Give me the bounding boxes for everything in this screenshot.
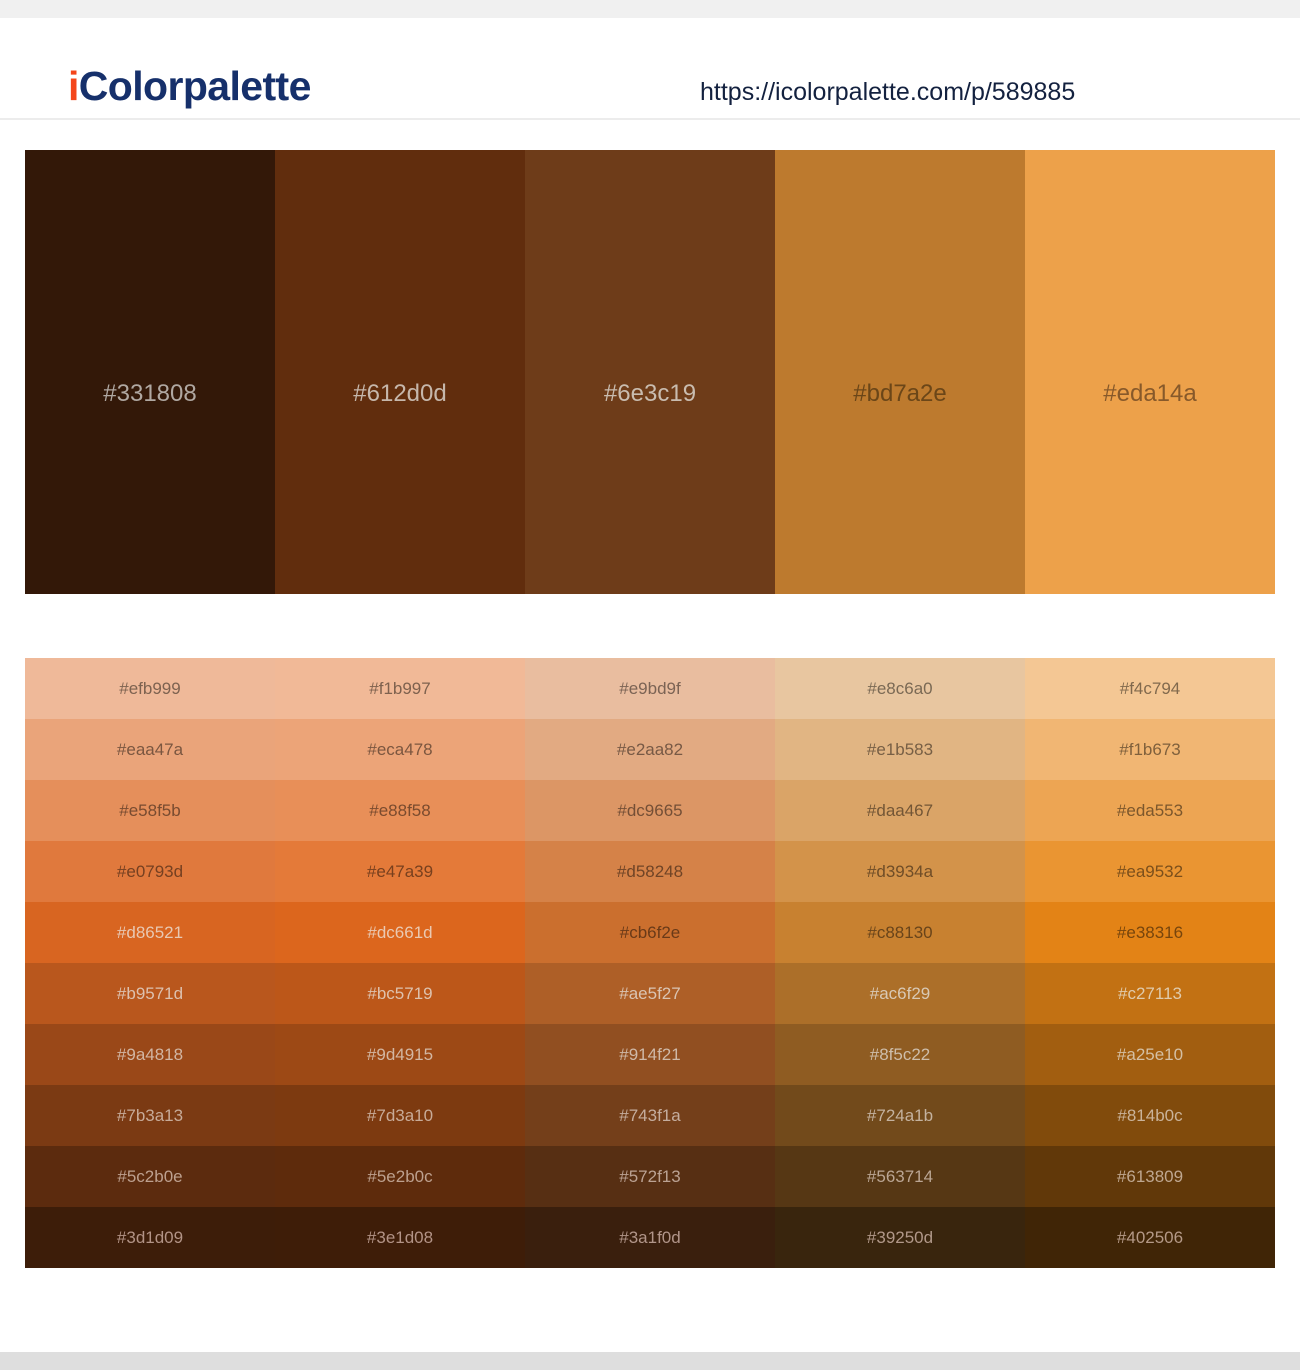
logo-i-letter: i xyxy=(68,63,79,109)
main-palette-band: #331808#612d0d#6e3c19#bd7a2e#eda14a xyxy=(25,150,1275,594)
shade-cell[interactable]: #9d4915 xyxy=(275,1024,525,1085)
palette-swatch-label: #612d0d xyxy=(275,382,525,406)
shade-cell[interactable]: #dc661d xyxy=(275,902,525,963)
shade-cell-label: #5c2b0e xyxy=(25,1146,275,1207)
shade-cell[interactable]: #cb6f2e xyxy=(525,902,775,963)
shade-cell-label: #c88130 xyxy=(775,902,1025,963)
shade-cell[interactable]: #eda553 xyxy=(1025,780,1275,841)
shade-cell[interactable]: #bc5719 xyxy=(275,963,525,1024)
shade-cell[interactable]: #724a1b xyxy=(775,1085,1025,1146)
page-url: https://icolorpalette.com/p/589885 xyxy=(700,78,1075,107)
page-root: iColorpalette https://icolorpalette.com/… xyxy=(0,0,1300,1370)
shade-cell[interactable]: #e0793d xyxy=(25,841,275,902)
bottom-gray-strip xyxy=(0,1352,1300,1370)
shade-cell[interactable]: #e88f58 xyxy=(275,780,525,841)
shade-row: #7b3a13#7d3a10#743f1a#724a1b#814b0c xyxy=(25,1085,1275,1146)
shade-cell[interactable]: #b9571d xyxy=(25,963,275,1024)
shade-cell-label: #7b3a13 xyxy=(25,1085,275,1146)
shade-row: #e58f5b#e88f58#dc9665#daa467#eda553 xyxy=(25,780,1275,841)
shade-cell[interactable]: #d58248 xyxy=(525,841,775,902)
shade-cell-label: #b9571d xyxy=(25,963,275,1024)
shade-cell[interactable]: #7d3a10 xyxy=(275,1085,525,1146)
shade-cell-label: #eaa47a xyxy=(25,719,275,780)
shade-cell-label: #ea9532 xyxy=(1025,841,1275,902)
shade-cell[interactable]: #7b3a13 xyxy=(25,1085,275,1146)
shade-cell-label: #3a1f0d xyxy=(525,1207,775,1268)
shade-cell[interactable]: #e2aa82 xyxy=(525,719,775,780)
shade-cell-label: #e9bd9f xyxy=(525,658,775,719)
shade-cell-label: #e2aa82 xyxy=(525,719,775,780)
shade-cell[interactable]: #9a4818 xyxy=(25,1024,275,1085)
shade-cell[interactable]: #563714 xyxy=(775,1146,1025,1207)
shade-cell[interactable]: #c88130 xyxy=(775,902,1025,963)
shade-cell-label: #c27113 xyxy=(1025,963,1275,1024)
shade-cell-label: #39250d xyxy=(775,1207,1025,1268)
shade-cell-label: #bc5719 xyxy=(275,963,525,1024)
shade-cell-label: #f4c794 xyxy=(1025,658,1275,719)
shade-row: #d86521#dc661d#cb6f2e#c88130#e38316 xyxy=(25,902,1275,963)
shade-cell[interactable]: #743f1a xyxy=(525,1085,775,1146)
shade-cell-label: #a25e10 xyxy=(1025,1024,1275,1085)
shade-cell-label: #d86521 xyxy=(25,902,275,963)
shade-cell-label: #563714 xyxy=(775,1146,1025,1207)
shade-cell[interactable]: #a25e10 xyxy=(1025,1024,1275,1085)
shade-cell[interactable]: #914f21 xyxy=(525,1024,775,1085)
shade-cell-label: #402506 xyxy=(1025,1207,1275,1268)
shade-cell-label: #e88f58 xyxy=(275,780,525,841)
shade-cell-label: #d3934a xyxy=(775,841,1025,902)
shade-cell-label: #572f13 xyxy=(525,1146,775,1207)
shade-cell-label: #daa467 xyxy=(775,780,1025,841)
shade-cell-label: #814b0c xyxy=(1025,1085,1275,1146)
shade-cell-label: #cb6f2e xyxy=(525,902,775,963)
palette-swatch-label: #bd7a2e xyxy=(775,382,1025,406)
shade-cell-label: #e47a39 xyxy=(275,841,525,902)
shade-cell-label: #724a1b xyxy=(775,1085,1025,1146)
shade-cell[interactable]: #ac6f29 xyxy=(775,963,1025,1024)
shade-cell[interactable]: #5e2b0c xyxy=(275,1146,525,1207)
shade-cell-label: #efb999 xyxy=(25,658,275,719)
shade-cell[interactable]: #8f5c22 xyxy=(775,1024,1025,1085)
shade-cell-label: #e0793d xyxy=(25,841,275,902)
shade-cell[interactable]: #daa467 xyxy=(775,780,1025,841)
shade-cell-label: #9a4818 xyxy=(25,1024,275,1085)
shade-cell[interactable]: #402506 xyxy=(1025,1207,1275,1268)
shade-row: #5c2b0e#5e2b0c#572f13#563714#613809 xyxy=(25,1146,1275,1207)
shade-cell-label: #f1b997 xyxy=(275,658,525,719)
shade-cell[interactable]: #e1b583 xyxy=(775,719,1025,780)
shade-cell[interactable]: #e47a39 xyxy=(275,841,525,902)
shade-cell[interactable]: #ae5f27 xyxy=(525,963,775,1024)
shade-cell-label: #e58f5b xyxy=(25,780,275,841)
shade-cell[interactable]: #e38316 xyxy=(1025,902,1275,963)
shade-cell[interactable]: #e58f5b xyxy=(25,780,275,841)
top-gray-strip xyxy=(0,0,1300,18)
shade-row: #b9571d#bc5719#ae5f27#ac6f29#c27113 xyxy=(25,963,1275,1024)
shade-cell[interactable]: #814b0c xyxy=(1025,1085,1275,1146)
shade-cell-label: #8f5c22 xyxy=(775,1024,1025,1085)
shade-cell-label: #eca478 xyxy=(275,719,525,780)
shade-cell-label: #ac6f29 xyxy=(775,963,1025,1024)
palette-swatch[interactable]: #612d0d xyxy=(275,150,525,594)
shade-cell[interactable]: #f1b997 xyxy=(275,658,525,719)
shade-row: #9a4818#9d4915#914f21#8f5c22#a25e10 xyxy=(25,1024,1275,1085)
shade-cell[interactable]: #3a1f0d xyxy=(525,1207,775,1268)
shade-cell[interactable]: #572f13 xyxy=(525,1146,775,1207)
palette-swatch-label: #eda14a xyxy=(1025,382,1275,406)
shade-cell-label: #3d1d09 xyxy=(25,1207,275,1268)
shade-cell-label: #9d4915 xyxy=(275,1024,525,1085)
shade-cell[interactable]: #e9bd9f xyxy=(525,658,775,719)
shade-cell[interactable]: #d3934a xyxy=(775,841,1025,902)
shade-cell[interactable]: #efb999 xyxy=(25,658,275,719)
shade-cell[interactable]: #ea9532 xyxy=(1025,841,1275,902)
palette-swatch[interactable]: #331808 xyxy=(25,150,275,594)
shade-cell[interactable]: #e8c6a0 xyxy=(775,658,1025,719)
shade-cell[interactable]: #c27113 xyxy=(1025,963,1275,1024)
site-header: iColorpalette https://icolorpalette.com/… xyxy=(0,18,1300,120)
shade-cell[interactable]: #3e1d08 xyxy=(275,1207,525,1268)
shade-row: #e0793d#e47a39#d58248#d3934a#ea9532 xyxy=(25,841,1275,902)
shade-cell[interactable]: #d86521 xyxy=(25,902,275,963)
shade-cell-label: #dc9665 xyxy=(525,780,775,841)
logo-wordmark: Colorpalette xyxy=(79,63,311,109)
shade-cell[interactable]: #eaa47a xyxy=(25,719,275,780)
shade-cell[interactable]: #613809 xyxy=(1025,1146,1275,1207)
shade-cell[interactable]: #f1b673 xyxy=(1025,719,1275,780)
shade-cell-label: #613809 xyxy=(1025,1146,1275,1207)
shade-row: #3d1d09#3e1d08#3a1f0d#39250d#402506 xyxy=(25,1207,1275,1268)
shade-cell-label: #7d3a10 xyxy=(275,1085,525,1146)
shade-cell[interactable]: #f4c794 xyxy=(1025,658,1275,719)
shade-cell[interactable]: #5c2b0e xyxy=(25,1146,275,1207)
palette-swatch-label: #331808 xyxy=(25,382,275,406)
palette-swatch[interactable]: #6e3c19 xyxy=(525,150,775,594)
shade-cell-label: #eda553 xyxy=(1025,780,1275,841)
shade-cell-label: #5e2b0c xyxy=(275,1146,525,1207)
palette-swatch[interactable]: #bd7a2e xyxy=(775,150,1025,594)
shade-cell-label: #743f1a xyxy=(525,1085,775,1146)
shade-cell-label: #d58248 xyxy=(525,841,775,902)
shade-row: #efb999#f1b997#e9bd9f#e8c6a0#f4c794 xyxy=(25,658,1275,719)
shade-cell[interactable]: #3d1d09 xyxy=(25,1207,275,1268)
site-logo[interactable]: iColorpalette xyxy=(68,66,311,107)
shade-cell[interactable]: #39250d xyxy=(775,1207,1025,1268)
shade-cell-label: #e8c6a0 xyxy=(775,658,1025,719)
palette-swatch[interactable]: #eda14a xyxy=(1025,150,1275,594)
shade-cell-label: #f1b673 xyxy=(1025,719,1275,780)
shade-cell-label: #dc661d xyxy=(275,902,525,963)
shade-row: #eaa47a#eca478#e2aa82#e1b583#f1b673 xyxy=(25,719,1275,780)
shade-cell-label: #3e1d08 xyxy=(275,1207,525,1268)
shade-cell-label: #e38316 xyxy=(1025,902,1275,963)
palette-swatch-label: #6e3c19 xyxy=(525,382,775,406)
shade-cell-label: #914f21 xyxy=(525,1024,775,1085)
shade-cell[interactable]: #dc9665 xyxy=(525,780,775,841)
shade-cell[interactable]: #eca478 xyxy=(275,719,525,780)
shade-cell-label: #e1b583 xyxy=(775,719,1025,780)
shades-grid: #efb999#f1b997#e9bd9f#e8c6a0#f4c794#eaa4… xyxy=(25,658,1275,1268)
shade-cell-label: #ae5f27 xyxy=(525,963,775,1024)
